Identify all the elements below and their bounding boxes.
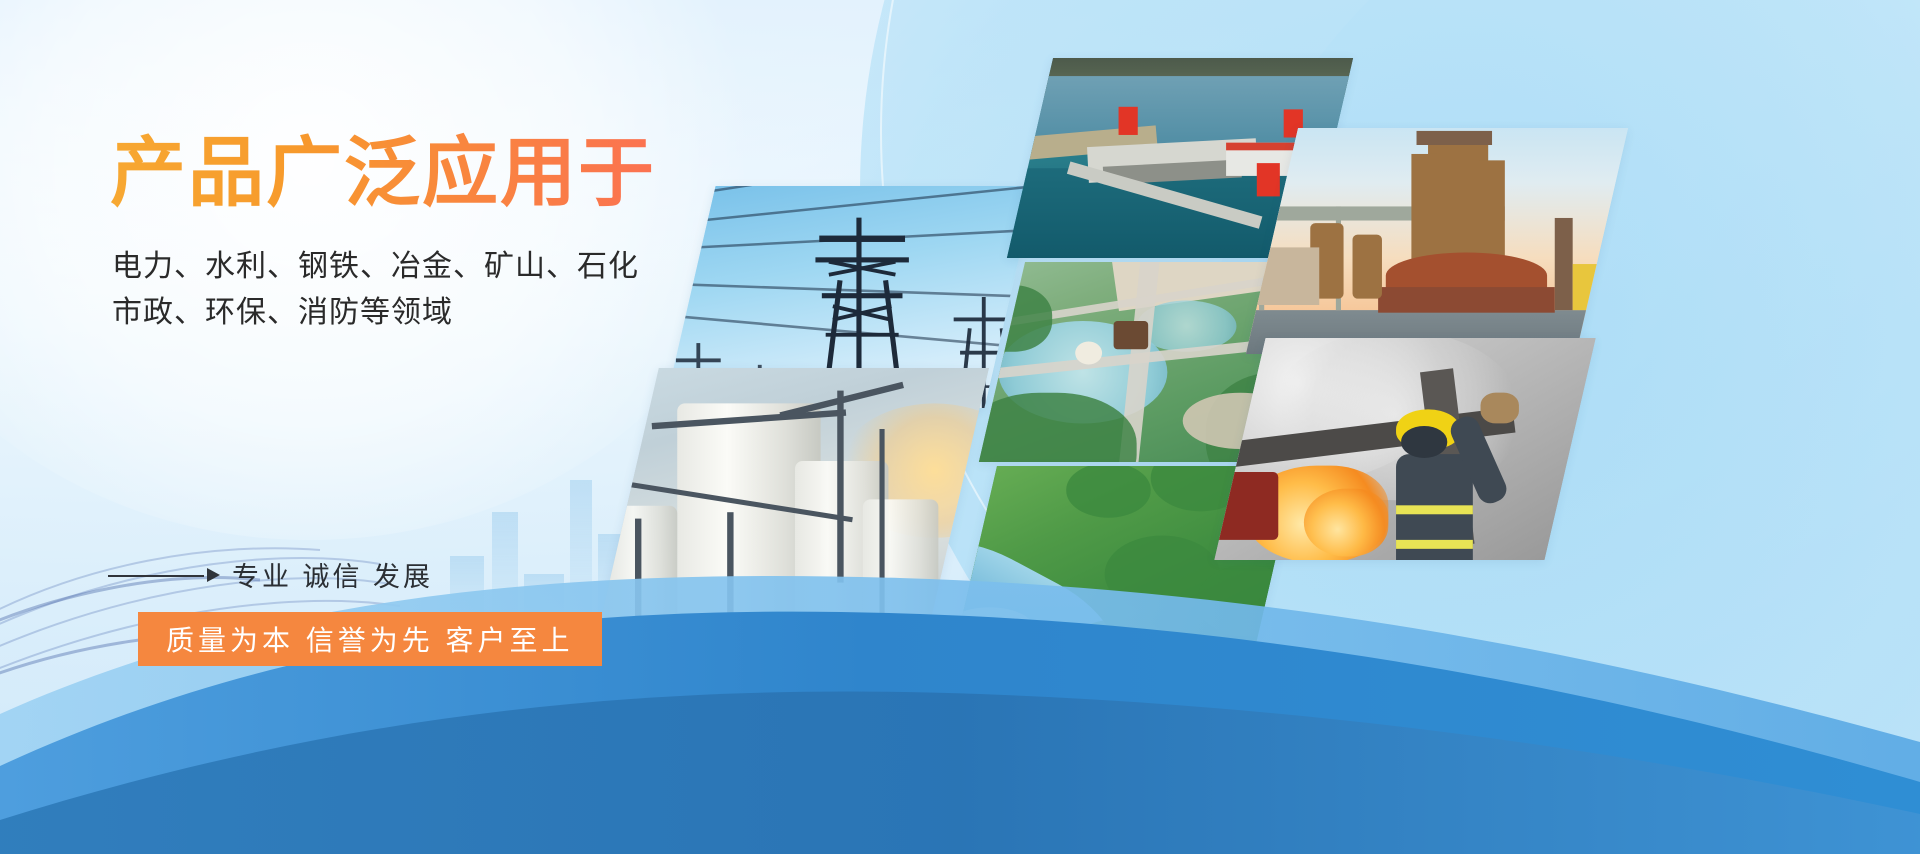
badge-label: 质量为本 信誉为先 客户至上 bbox=[166, 619, 574, 659]
subtitle-line-1: 电力、水利、钢铁、冶金、矿山、石化 bbox=[112, 244, 810, 291]
slogan-text: 专业 诚信 发展 bbox=[232, 555, 433, 594]
status-badge: 质量为本 信誉为先 客户至上 bbox=[138, 612, 602, 666]
subtitle-line-2: 市政、环保、消防等领域 bbox=[112, 290, 810, 337]
page-title: 产品广泛应用于 bbox=[110, 132, 810, 216]
long-arrow-right-icon bbox=[108, 566, 220, 584]
collage-panel-steel-mill bbox=[1246, 128, 1628, 354]
headline-block: 产品广泛应用于 电力、水利、钢铁、冶金、矿山、石化 市政、环保、消防等领域 bbox=[110, 132, 810, 337]
banner-stage: 产品广泛应用于 电力、水利、钢铁、冶金、矿山、石化 市政、环保、消防等领域 专业… bbox=[0, 0, 1920, 854]
slogan-row: 专业 诚信 发展 bbox=[108, 555, 433, 594]
subtitle-block: 电力、水利、钢铁、冶金、矿山、石化 市政、环保、消防等领域 bbox=[112, 244, 810, 338]
